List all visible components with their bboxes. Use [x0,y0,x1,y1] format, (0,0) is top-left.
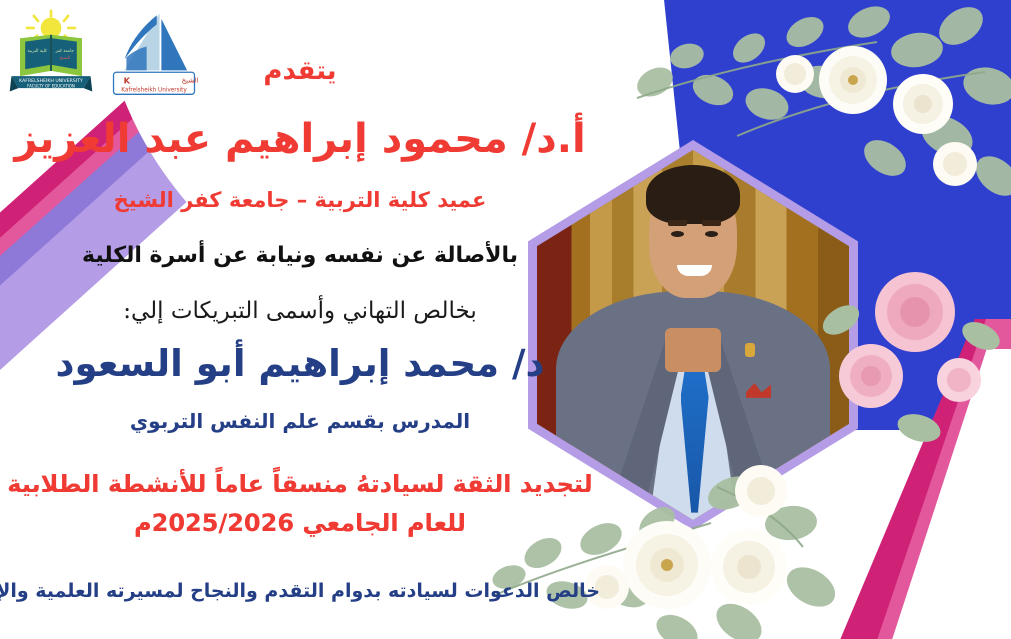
on-behalf-text: بالأصالة عن نفسه ونيابة عن أسرة الكلية [0,243,600,268]
portrait-smile [677,265,711,276]
white-rose-icon [711,529,787,605]
logo-arabic-name: جامعة كفر الشيخ [182,76,200,84]
logo-english-bottom: FACULTY OF EDUCATION [27,83,75,88]
presenter-title: عميد كلية التربية – جامعة كفر الشيخ [0,188,600,212]
faculty-of-education-logo: كلية التربية جامعة كفر الشيخ KAFRELSHEIK… [8,6,94,102]
logo-row: K جامعة كفر الشيخ Kafrelsheikh Universit… [8,6,200,102]
white-rose-icon [623,521,711,609]
portrait-eyebrow-right [702,220,721,226]
open-book-icon: كلية التربية جامعة كفر الشيخ [20,35,82,76]
honoree-name: د/ محمد إبراهيم أبو السعود [0,342,600,385]
svg-text:جامعة كفر: جامعة كفر [54,48,74,54]
svg-text:الشيخ: الشيخ [60,56,70,61]
portrait-lapel-pin [745,343,755,357]
sailboat-icon [125,13,188,70]
svg-text:كلية التربية: كلية التربية [28,48,48,54]
logo-mark-letter: K [124,75,131,85]
closing-wishes-text: خالص الدعوات لسيادته بدوام التقدم والنجا… [0,580,600,602]
presenter-name: أ.د/ محمود إبراهيم عبد العزيز [0,116,600,162]
kafrelsheikh-university-logo: K جامعة كفر الشيخ Kafrelsheikh Universit… [108,6,200,102]
greeting-text: بخالص التهاني وأسمى التبريكات إلي: [0,298,600,324]
honoree-title: المدرس بقسم علم النفس التربوي [0,409,600,433]
portrait-hair [646,165,740,224]
portrait-eyebrow-left [668,220,687,226]
congratulation-poster: K جامعة كفر الشيخ Kafrelsheikh Universit… [0,0,1011,639]
logo-english-name: Kafrelsheikh University [121,88,187,94]
academic-year-text: للعام الجامعي 2025/2026م [0,509,600,537]
ribbon-banner-icon: KAFRELSHEIKH UNIVERSITY FACULTY OF EDUCA… [10,76,93,91]
portrait-neck [665,328,721,372]
occasion-text: لتجديد الثقة لسيادتهُ منسقاً عاماً للأنش… [0,470,600,498]
